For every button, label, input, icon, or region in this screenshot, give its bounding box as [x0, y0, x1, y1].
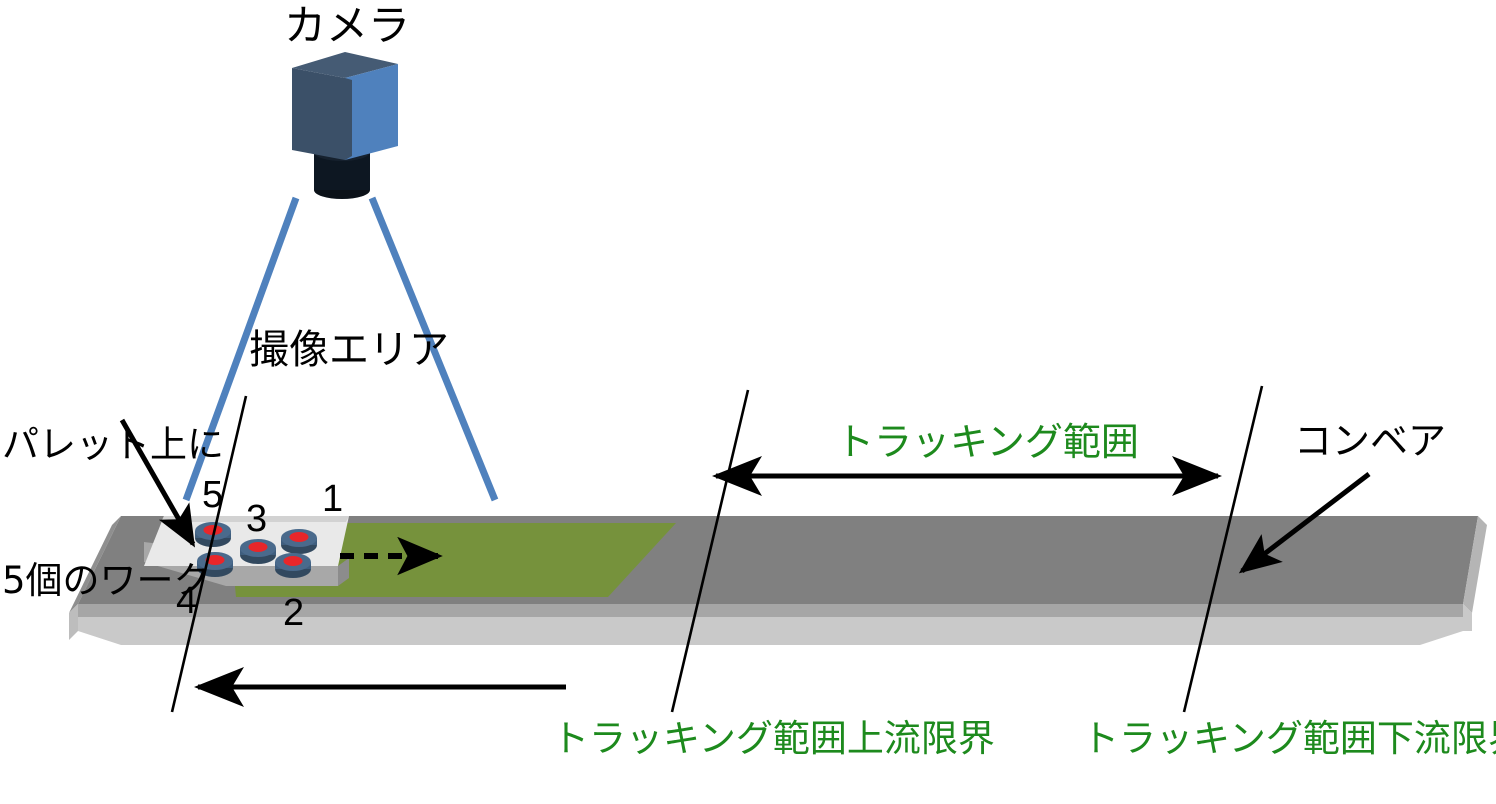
workpiece-number-2: 2 — [283, 592, 304, 635]
tracking-diagram-svg — [0, 0, 1496, 804]
camera-body-left-face — [292, 68, 345, 160]
workpiece-3 — [240, 539, 276, 564]
workpiece-number-5: 5 — [202, 474, 223, 517]
label-upstream-limit: トラッキング範囲上流限界 — [552, 718, 995, 759]
diagram-canvas: カメラ 撮像エリア パレット上に 5個のワーク コンベア トラッキング範囲 トラ… — [0, 0, 1496, 804]
workpiece-1 — [281, 529, 317, 554]
label-conveyor: コンベア — [1294, 420, 1446, 463]
workpiece-number-4: 4 — [176, 580, 197, 623]
workpiece-2 — [275, 553, 311, 578]
label-track-start-range: トラッキング開始範囲 （ TrackOffsetMargin ） — [166, 718, 598, 804]
camera — [292, 52, 398, 199]
label-downstream-limit: トラッキング範囲下流限界 — [1082, 718, 1496, 759]
camera-body-right-rim — [345, 78, 352, 160]
workpiece-number-1: 1 — [322, 478, 343, 521]
label-camera: カメラ — [284, 2, 410, 49]
workpiece-number-3: 3 — [246, 498, 267, 541]
label-tracking-range: トラッキング範囲 — [836, 421, 1139, 464]
label-pallet-note: パレット上に 5個のワーク — [2, 332, 224, 693]
label-pallet-note-line1: パレット上に — [2, 422, 224, 467]
camera-body-right-face — [345, 64, 398, 160]
label-imaging-area: 撮像エリア — [249, 328, 449, 373]
